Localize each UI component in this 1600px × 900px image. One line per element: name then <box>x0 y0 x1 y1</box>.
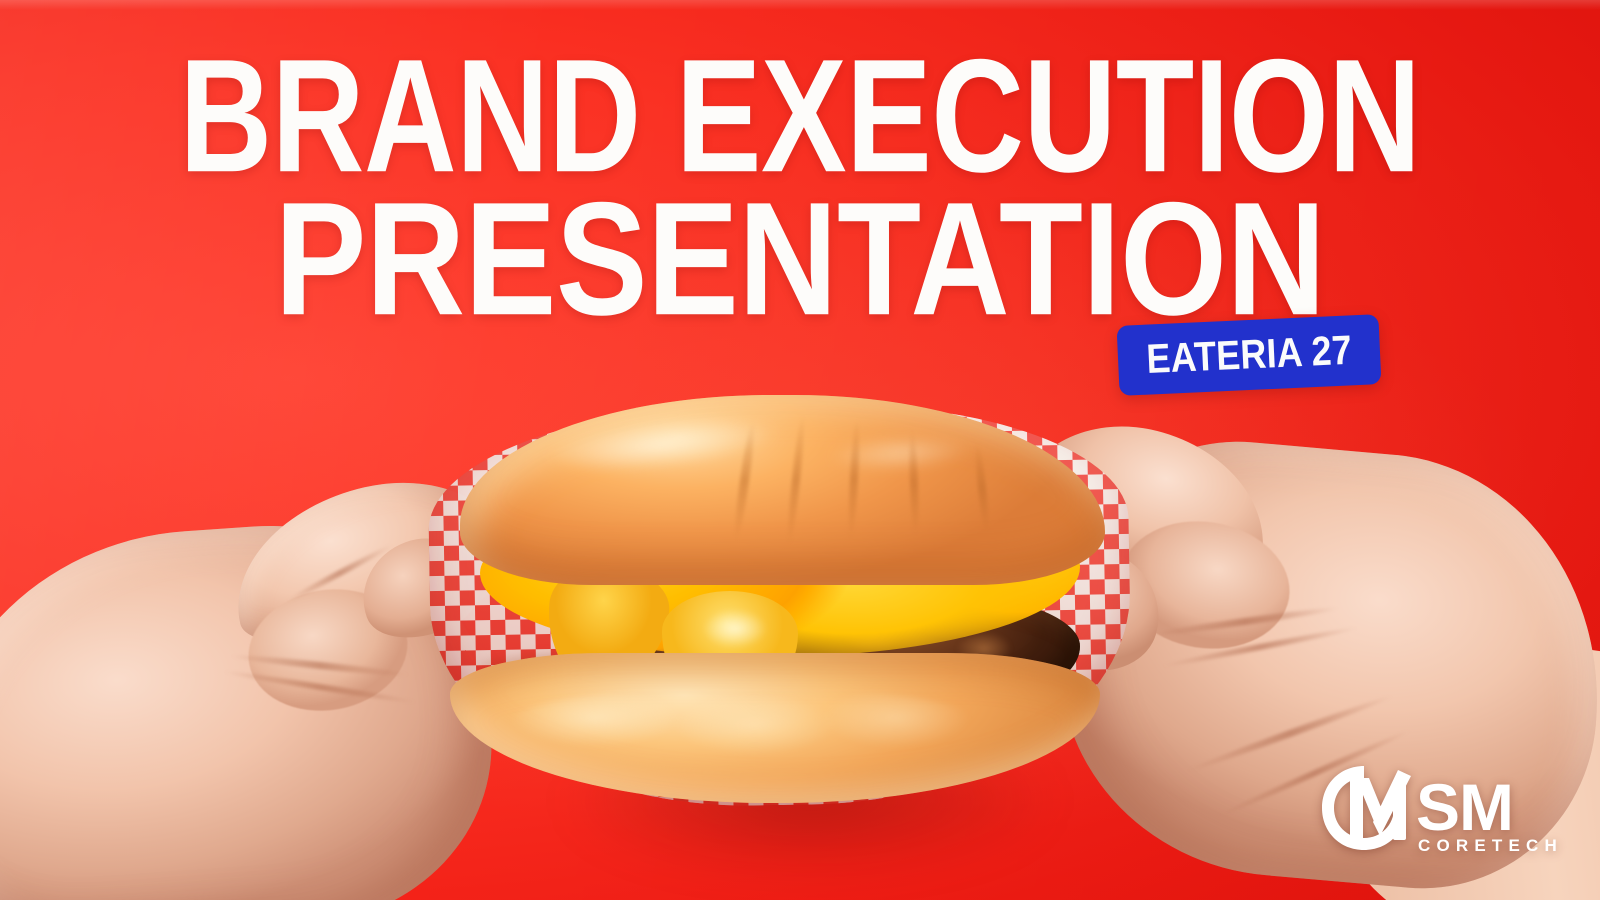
bottom-bun-texture <box>510 687 980 757</box>
svg-text:CORETECH: CORETECH <box>1418 836 1562 855</box>
presentation-slide: BRAND EXECUTION PRESENTATION EATERIA 27 <box>0 0 1600 900</box>
msm-check-circle-mark <box>1322 766 1411 850</box>
msm-coretech-logo[interactable]: SM CORETECH <box>1312 756 1562 856</box>
brand-badge[interactable]: EATERIA 27 <box>1117 314 1382 396</box>
msm-tagline: CORETECH <box>1418 836 1562 855</box>
svg-text:SM: SM <box>1416 770 1513 844</box>
brand-badge-label: EATERIA 27 <box>1145 327 1352 383</box>
cheeseburger <box>440 395 1120 785</box>
msm-wordmark: SM <box>1416 770 1513 844</box>
